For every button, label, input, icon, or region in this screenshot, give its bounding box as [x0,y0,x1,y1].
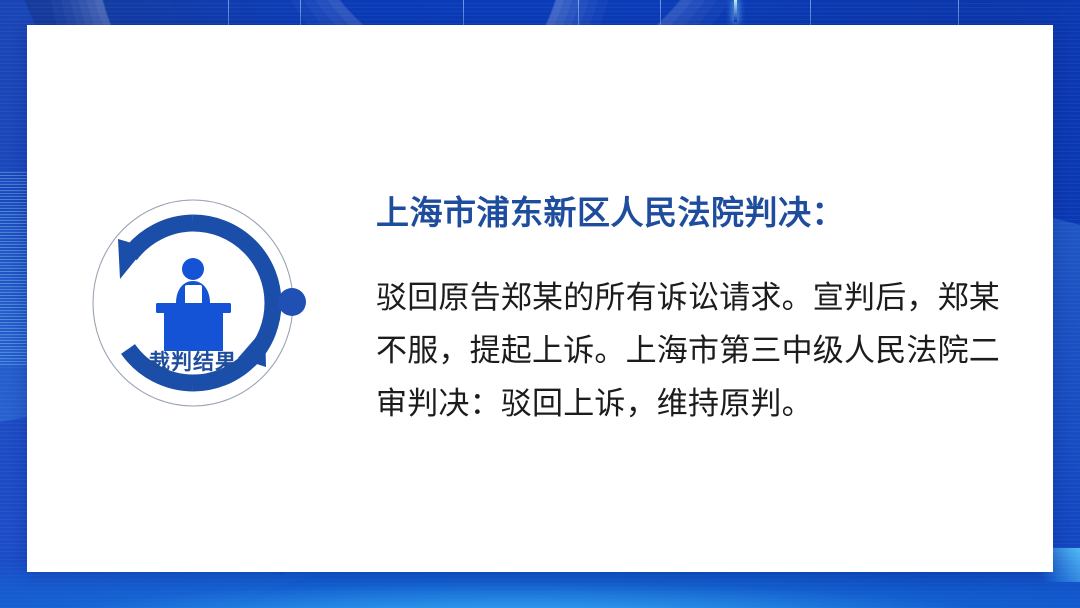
background-light-spark [734,0,737,22]
page-title: 上海市浦东新区人民法院判决： [376,193,1007,233]
badge-label: 裁判结果 [149,351,237,374]
orbit-dot-icon [278,288,306,316]
judgment-body-text: 驳回原告郑某的所有诉讼请求。宣判后，郑某 不服，提起上诉。上海市第三中级人民法院… [376,271,1007,430]
body-line: 审判决：驳回上诉，维持原判。 [376,377,1007,430]
body-line: 不服，提起上诉。上海市第三中级人民法院二 [376,324,1007,377]
body-line: 驳回原告郑某的所有诉讼请求。宣判后，郑某 [376,271,1007,324]
slide-root: 裁判结果 上海市浦东新区人民法院判决： 驳回原告郑某的所有诉讼请求。宣判后，郑某… [0,0,1080,608]
judge-at-bench-icon [156,258,231,351]
card-content: 裁判结果 上海市浦东新区人民法院判决： 驳回原告郑某的所有诉讼请求。宣判后，郑某… [27,25,1053,572]
content-card: 裁判结果 上海市浦东新区人民法院判决： 驳回原告郑某的所有诉讼请求。宣判后，郑某… [27,25,1053,572]
judgment-text-block: 上海市浦东新区人民法院判决： 驳回原告郑某的所有诉讼请求。宣判后，郑某 不服，提… [376,193,1007,430]
judgment-result-badge: 裁判结果 [88,197,324,409]
